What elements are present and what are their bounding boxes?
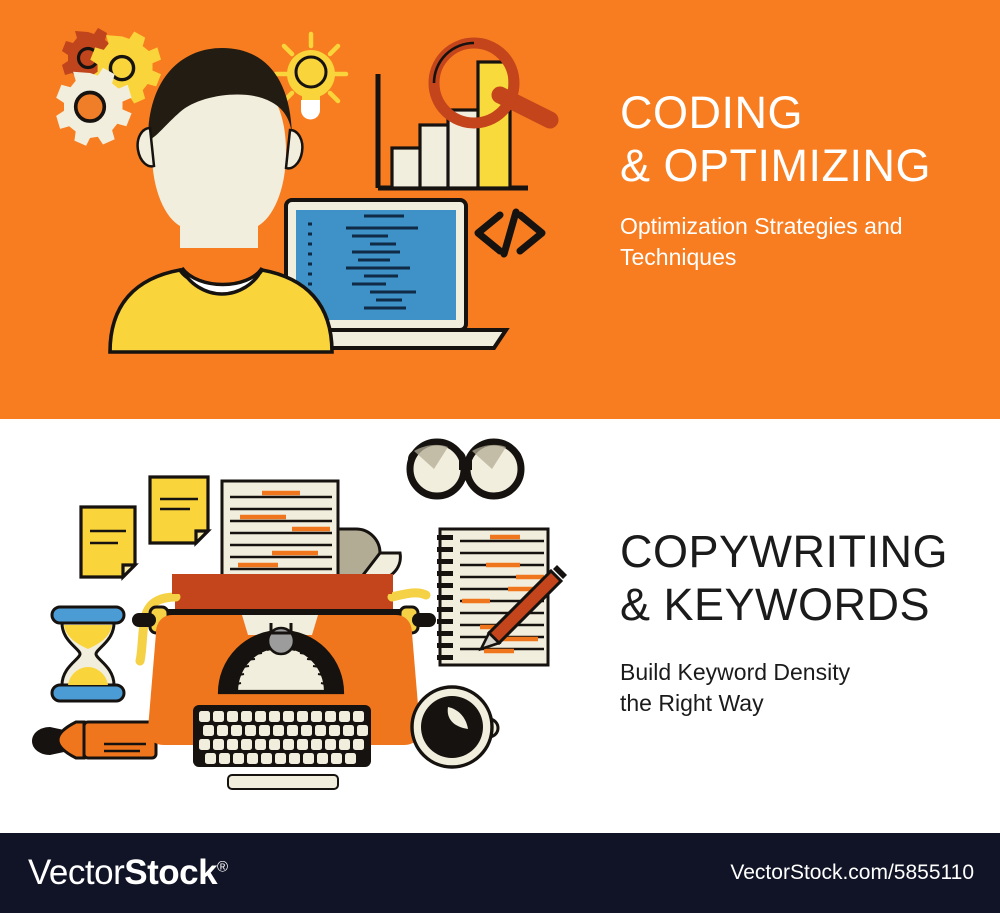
logo-bold-part: Stock [124,853,217,892]
typed-sheet-icon [222,481,338,587]
watermark-footer: VectorStock® VectorStock.com/5855110 [0,833,1000,913]
bottom-headline: COPYWRITING & KEYWORDS [620,525,948,631]
registered-mark-icon: ® [217,858,228,875]
hourglass-icon [52,607,124,701]
code-tag-icon [478,212,542,254]
highlighter-icon [32,722,156,758]
top-headline: CODING & OPTIMIZING [620,86,931,192]
top-banner-copy: CODING & OPTIMIZING Optimization Strateg… [620,86,931,273]
poster-canvas: CODING & OPTIMIZING Optimization Strateg… [0,0,1000,913]
bottom-subhead: Build Keyword Density the Right Way [620,657,948,719]
bar-chart-icon [378,62,528,188]
typewriter-icon [132,574,436,789]
bottom-banner-copy: COPYWRITING & KEYWORDS Build Keyword Den… [620,525,948,719]
watermark-url: VectorStock.com/5855110 [730,861,974,885]
banner-copywriting-keywords: COPYWRITING & KEYWORDS Build Keyword Den… [0,419,1000,833]
banner-coding-optimizing: CODING & OPTIMIZING Optimization Strateg… [0,0,1000,419]
sticky-note-icon [150,477,208,543]
top-subhead: Optimization Strategies and Techniques [620,211,931,273]
illustration-developer-at-laptop [0,0,600,419]
sticky-note-icon [81,507,135,577]
illustration-typewriter-desk [0,419,600,833]
logo-light-part: Vector [28,853,124,892]
vectorstock-logo: VectorStock® [28,853,228,893]
eyeglasses-icon [408,442,522,496]
coffee-cup-icon [412,687,498,767]
